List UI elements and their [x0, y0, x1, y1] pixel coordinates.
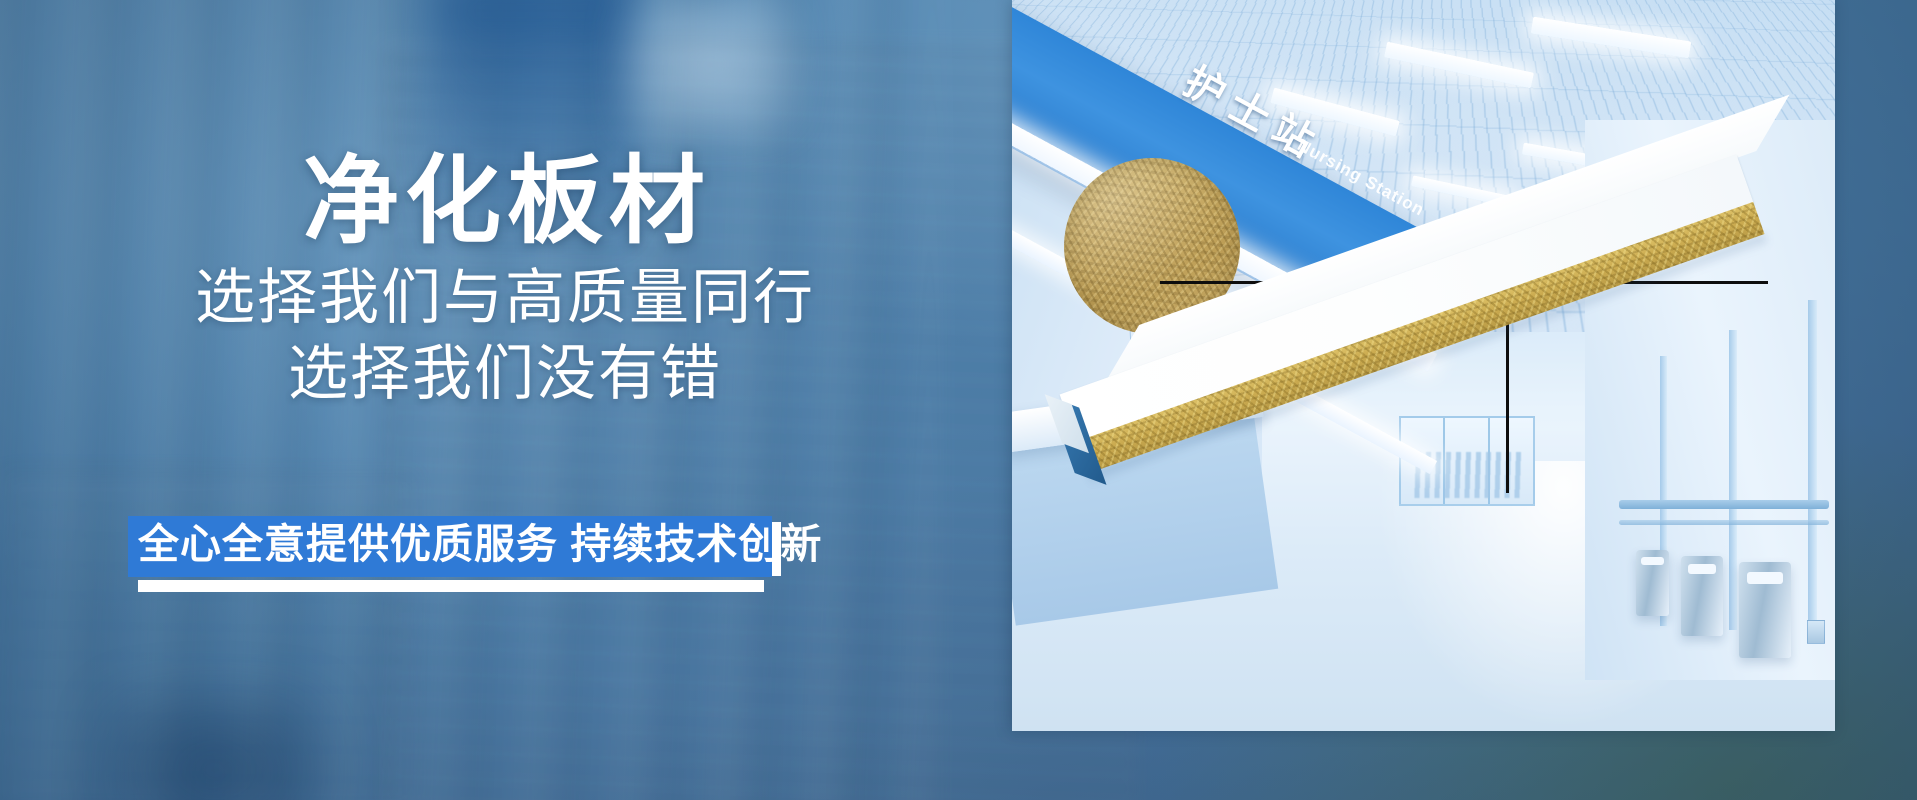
- door-frame-1: [1808, 300, 1817, 630]
- tagline-block: 全心全意提供优质服务 持续技术创新: [128, 516, 772, 577]
- wall-handrail-2: [1619, 520, 1829, 525]
- tagline-bar: 全心全意提供优质服务 持续技术创新: [128, 516, 772, 577]
- wall-socket: [1807, 620, 1825, 644]
- trash-bin-lid-1: [1747, 572, 1782, 584]
- product-hero-banner: 净化板材 选择我们与高质量同行 选择我们没有错 全心全意提供优质服务 持续技术创…: [0, 0, 1917, 800]
- subtitle-line-1: 选择我们与高质量同行: [0, 260, 1000, 337]
- tagline-underline-bar: [138, 580, 764, 592]
- trash-bin-3: [1636, 550, 1669, 616]
- tagline-text: 全心全意提供优质服务 持续技术创新: [138, 522, 762, 568]
- product-photo: 考勤表 护士长查房记录 值班人员 交接班签字 各项护理工作完成情况 护士站 Nu…: [1012, 0, 1835, 731]
- page-title: 净化板材: [0, 150, 1000, 254]
- headline-text-column: 净化板材 选择我们与高质量同行 选择我们没有错: [0, 150, 1000, 413]
- trash-bin-lid-2: [1688, 564, 1717, 574]
- wall-handrail-1: [1619, 500, 1829, 509]
- door-frame-2: [1729, 330, 1737, 630]
- trash-bin-2: [1681, 556, 1723, 636]
- subtitle-line-2: 选择我们没有错: [0, 336, 1000, 413]
- trash-bin-1: [1739, 562, 1791, 658]
- trash-bin-lid-3: [1641, 557, 1663, 566]
- tagline-end-tick: [772, 522, 781, 576]
